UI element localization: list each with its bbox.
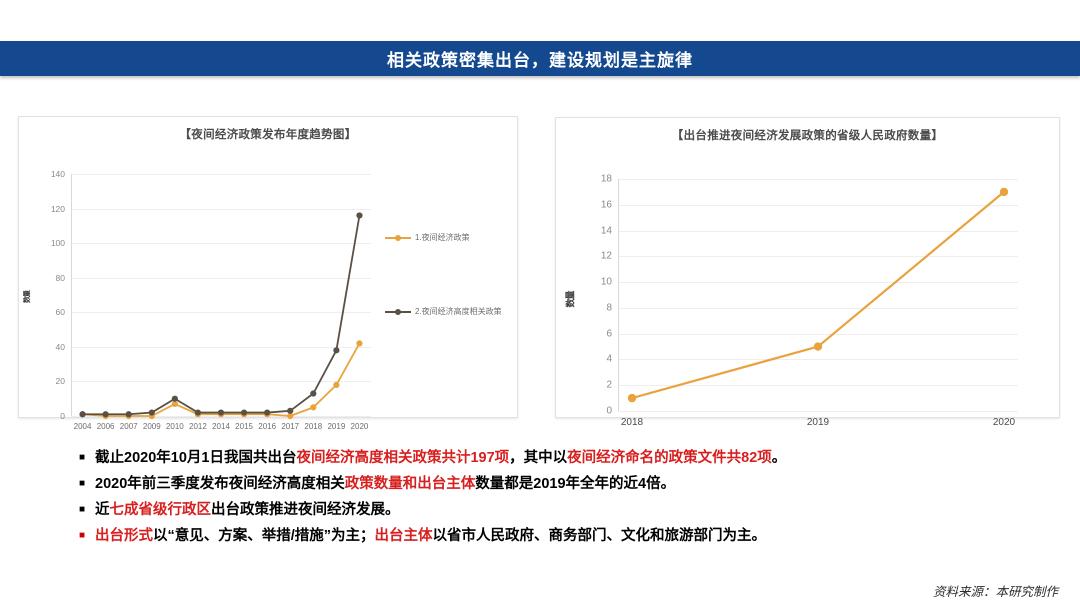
bullet-square-icon: ■ [79,448,95,467]
legend-item-2[interactable]: 2.夜间经济高度相关政策 [385,306,502,317]
key-findings-list: ■截止2020年10月1日我国共出台夜间经济高度相关政策共计197项，其中以夜间… [79,448,1064,552]
data-point [310,404,316,410]
key-finding-text: 2020年前三季度发布夜间经济高度相关政策数量和出台主体数量都是2019年全年的… [95,474,1064,495]
data-point [333,347,339,353]
series-canvas [556,143,1059,442]
data-point [628,394,636,402]
series-line-2 [83,215,360,414]
chart-title-policy-trend: 【夜间经济政策发布年度趋势图】 [19,126,517,142]
data-point [287,408,293,414]
plain-phrase: ，其中以 [509,450,567,466]
plain-phrase: 2020年前三季度发布夜间经济高度相关 [95,476,345,492]
key-finding-text: 近七成省级行政区出台政策推进夜间经济发展。 [95,500,1064,521]
data-point [172,396,178,402]
data-point [333,382,339,388]
data-point [218,409,224,415]
legend-label: 2.夜间经济高度相关政策 [415,306,502,317]
data-point [310,390,316,396]
data-point [126,411,132,417]
plain-phrase: 以“意见、方案、举措/措施”为主； [153,528,375,544]
plain-phrase: 近 [95,502,110,518]
source-note: 资料来源：本研究制作 [933,581,1058,600]
highlighted-phrase: 政策数量和出台主体 [345,476,476,492]
key-finding-item: ■出台形式以“意见、方案、举措/措施”为主；出台主体以省市人民政府、商务部门、文… [79,526,1064,547]
key-finding-item: ■截止2020年10月1日我国共出台夜间经济高度相关政策共计197项，其中以夜间… [79,448,1064,469]
bullet-square-icon: ■ [79,500,95,519]
plot-area-policy-trend: 数量 0204060801001201402004200620072009201… [19,142,517,442]
highlighted-phrase: 夜间经济高度相关政策共计197项 [296,450,509,466]
data-point [103,411,109,417]
data-point [1000,188,1008,196]
highlighted-phrase: 七成省级行政区 [110,502,212,518]
highlighted-phrase: 出台主体 [375,528,433,544]
data-point [814,342,822,350]
data-point [195,409,201,415]
legend-swatch-icon [385,233,411,243]
highlighted-phrase: 出台形式 [95,528,153,544]
series-line-1 [632,192,1004,398]
key-finding-text: 截止2020年10月1日我国共出台夜间经济高度相关政策共计197项，其中以夜间经… [95,448,1064,469]
bullet-square-icon: ■ [79,526,95,545]
key-finding-item: ■近七成省级行政区出台政策推进夜间经济发展。 [79,500,1064,521]
legend-label: 1.夜间经济政策 [415,232,470,243]
highlighted-phrase: 夜间经济命名的政策文件共82项 [567,450,772,466]
data-point [356,340,362,346]
bullet-square-icon: ■ [79,474,95,493]
data-point [356,212,362,218]
plain-phrase: 数量都是2019年全年的近4倍。 [475,476,675,492]
page-title: 相关政策密集出台，建设规划是主旋律 [387,46,693,71]
chart-title-provincial-gov-count: 【出台推进夜间经济发展政策的省级人民政府数量】 [556,127,1059,143]
plot-area-provincial-gov-count: 数量 024681012141618201820192020 [556,143,1059,442]
chart-card-policy-trend: 【夜间经济政策发布年度趋势图】 数量 020406080100120140200… [18,116,518,418]
series-line-1 [83,343,360,416]
chart-card-provincial-gov-count: 【出台推进夜间经济发展政策的省级人民政府数量】 数量 0246810121416… [555,117,1060,418]
plain-phrase: 。 [772,450,787,466]
plain-phrase: 出台政策推进夜间经济发展。 [211,502,400,518]
legend-item-1[interactable]: 1.夜间经济政策 [385,232,470,243]
data-point [241,409,247,415]
series-canvas [19,142,517,442]
legend-swatch-icon [385,307,411,317]
plain-phrase: 以省市人民政府、商务部门、文化和旅游部门为主。 [433,528,767,544]
data-point [79,411,85,417]
slide-header-bar: 相关政策密集出台，建设规划是主旋律 [0,41,1080,76]
key-finding-item: ■2020年前三季度发布夜间经济高度相关政策数量和出台主体数量都是2019年全年… [79,474,1064,495]
data-point [264,409,270,415]
plain-phrase: 截止2020年10月1日我国共出台 [95,450,296,466]
key-finding-text: 出台形式以“意见、方案、举措/措施”为主；出台主体以省市人民政府、商务部门、文化… [95,526,1064,547]
data-point [149,409,155,415]
